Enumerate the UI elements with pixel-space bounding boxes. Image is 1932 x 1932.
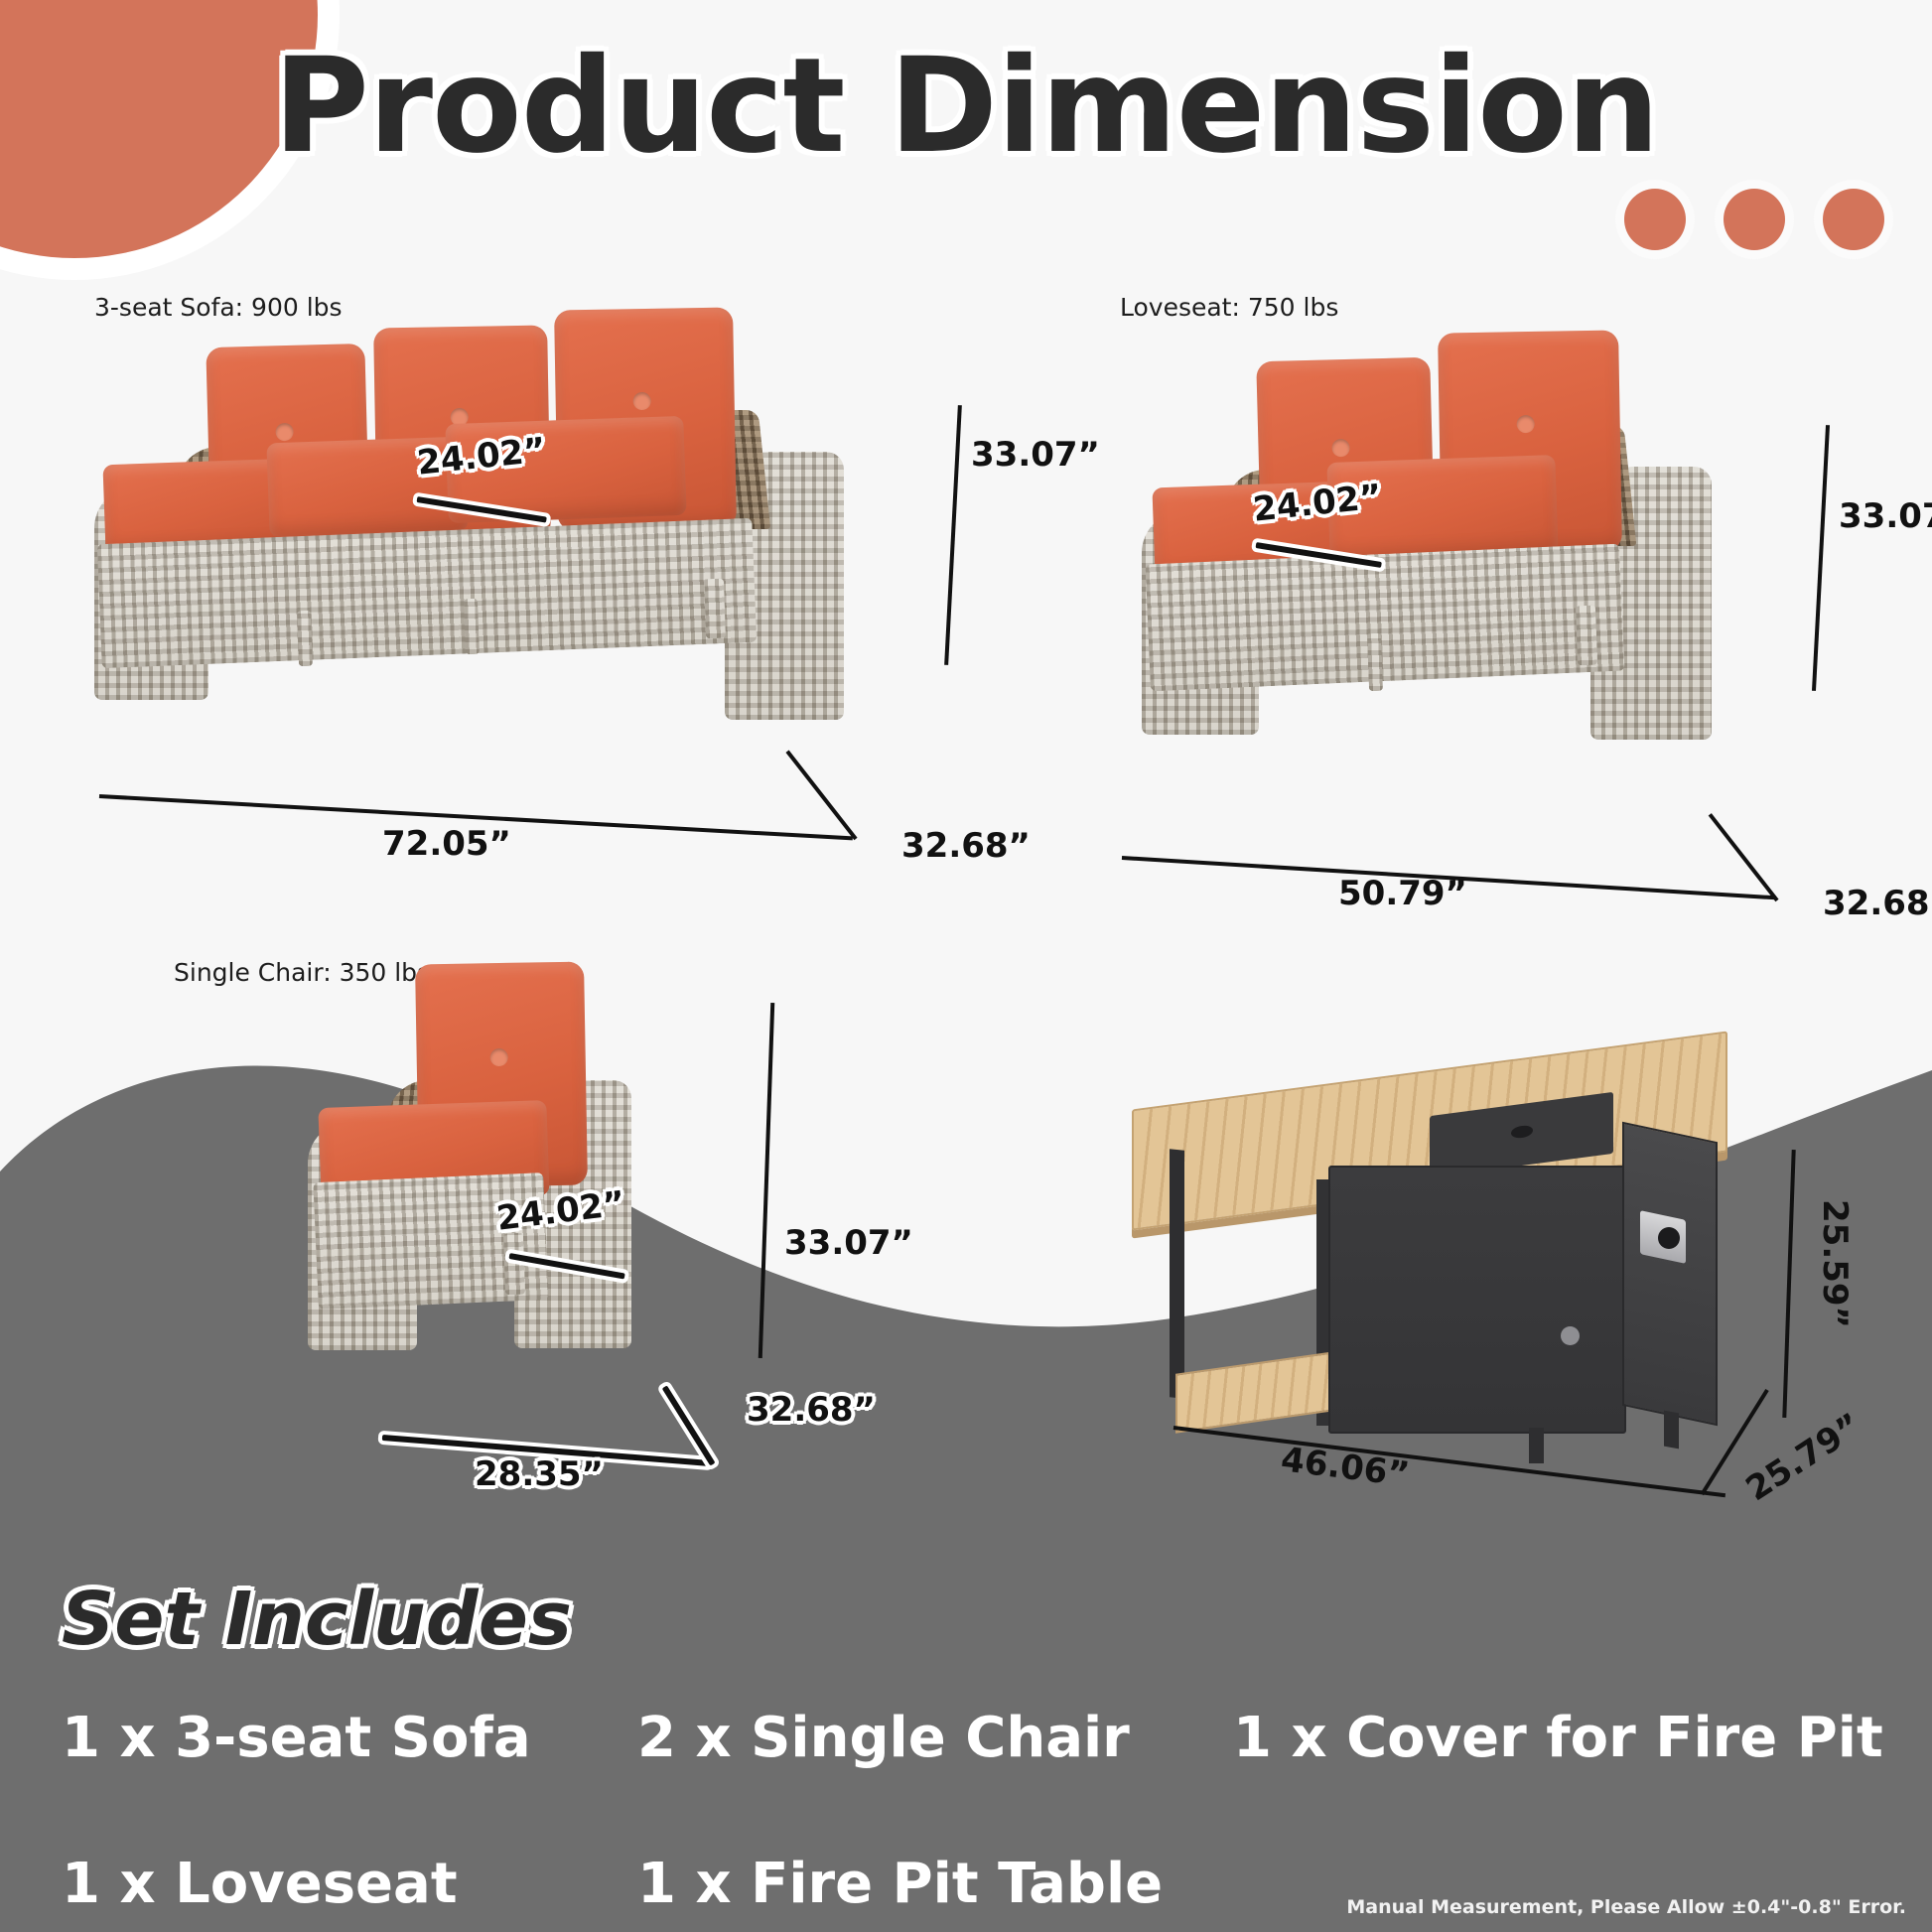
set-item: 1 x Cover for Fire Pit	[1233, 1706, 1888, 1770]
set-item: 2 x Single Chair	[637, 1706, 1233, 1770]
control-knob-icon	[1658, 1227, 1680, 1249]
set-item: 1 x 3-seat Sofa	[62, 1706, 637, 1770]
chair-caption: Single Chair: 350 lbs	[174, 958, 430, 987]
table-leg	[1529, 1428, 1544, 1463]
accent-dot-icon	[1624, 189, 1686, 250]
cabinet-side-panel	[1622, 1122, 1718, 1426]
firepit-table-illustration	[1132, 1062, 1767, 1459]
firepit-height-label: 25.59”	[1815, 1199, 1855, 1328]
chair-height-label: 33.07”	[784, 1223, 913, 1263]
sofa-width-label: 72.05”	[382, 824, 511, 864]
table-leg	[1664, 1411, 1679, 1449]
sofa-caption: 3-seat Sofa: 900 lbs	[94, 293, 343, 322]
loveseat-illustration	[1112, 367, 1807, 864]
loveseat-height-label: 33.07”	[1839, 496, 1932, 536]
sofa-illustration	[60, 352, 953, 849]
loveseat-width-label: 50.79”	[1338, 874, 1467, 913]
chair-width-label: 28.35”	[475, 1454, 604, 1494]
dot-decoration-group	[1624, 189, 1884, 250]
set-item: 1 x Loveseat	[62, 1852, 637, 1916]
measurement-disclaimer: Manual Measurement, Please Allow ±0.4"-0…	[1346, 1896, 1906, 1918]
chair-depth-label: 32.68”	[747, 1390, 876, 1430]
set-includes-list: 1 x 3-seat Sofa 2 x Single Chair 1 x Cov…	[62, 1706, 1888, 1916]
firepit-cabinet	[1328, 1166, 1626, 1434]
accent-dot-icon	[1823, 189, 1884, 250]
set-includes-title: Set Includes	[62, 1577, 572, 1662]
page-title: Product Dimension	[0, 30, 1932, 183]
sofa-depth-label: 32.68”	[901, 826, 1031, 866]
cabinet-door-handle-icon	[1561, 1326, 1580, 1345]
table-leg	[1170, 1149, 1184, 1399]
product-chair: Single Chair: 350 lbs	[174, 958, 430, 987]
loveseat-caption: Loveseat: 750 lbs	[1120, 293, 1338, 322]
loveseat-depth-label: 32.68”	[1823, 884, 1932, 923]
accent-dot-icon	[1724, 189, 1785, 250]
sofa-height-label: 33.07”	[971, 435, 1100, 475]
product-loveseat: Loveseat: 750 lbs	[1120, 293, 1338, 322]
set-item: 1 x Fire Pit Table	[637, 1852, 1233, 1916]
product-sofa: 3-seat Sofa: 900 lbs	[94, 293, 343, 322]
loveseat-height-line	[1812, 425, 1830, 691]
